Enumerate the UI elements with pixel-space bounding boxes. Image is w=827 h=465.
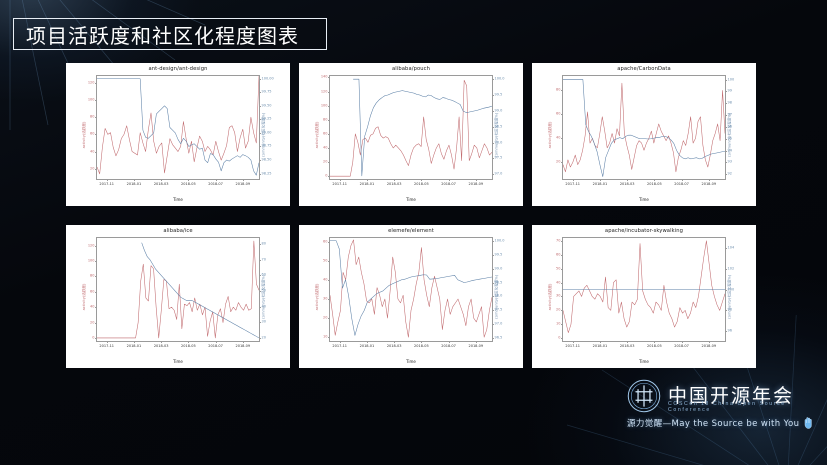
- series-line-community: [142, 243, 259, 338]
- x-axis-tick-mark: [449, 179, 450, 181]
- secondary-y-axis-tick-label: 100: [728, 78, 735, 82]
- secondary-y-axis-tick-mark: [492, 127, 494, 128]
- x-axis-tick-mark: [188, 179, 189, 181]
- y-axis-tick-mark: [328, 318, 330, 319]
- x-axis-tick-mark: [367, 179, 368, 181]
- plot-lines: [97, 238, 259, 341]
- x-axis-tick-mark: [188, 341, 189, 343]
- secondary-y-axis-tick-mark: [259, 275, 261, 276]
- x-axis-tick-label: 2017-11: [565, 344, 580, 348]
- secondary-y-axis-tick-label: 97.0: [495, 172, 503, 176]
- chart-title: alibaba/pouch: [299, 66, 523, 72]
- y-axis-tick-label: 30: [556, 295, 560, 299]
- x-axis-tick-label: 2018-09: [701, 182, 716, 186]
- x-axis-tick-mark: [573, 341, 574, 343]
- secondary-y-axis-tick-label: 96.5: [495, 336, 503, 340]
- y-axis-tick-label: 120: [88, 244, 95, 248]
- secondary-y-axis-tick-mark: [725, 139, 727, 140]
- y-axis-tick-label: 50: [556, 267, 560, 271]
- slide-canvas: 项目活跃度和社区化程度图表 ant-design/ant-design20406…: [0, 0, 827, 465]
- secondary-y-axis-tick-label: 92: [728, 173, 732, 177]
- x-axis-tick-label: 2018-07: [441, 344, 456, 348]
- x-axis-tick-mark: [367, 341, 368, 343]
- x-axis-tick-mark: [627, 179, 628, 181]
- x-axis-tick-label: 2018-09: [235, 344, 250, 348]
- y-axis-tick-label: 40: [90, 150, 94, 154]
- secondary-y-axis-tick-mark: [259, 244, 261, 245]
- x-axis-tick-label: 2018-07: [441, 182, 456, 186]
- x-axis-tick-label: 2017-11: [565, 182, 580, 186]
- secondary-y-axis-tick-mark: [259, 133, 261, 134]
- x-axis-tick-mark: [107, 179, 108, 181]
- x-axis-tick-label: 2018-01: [593, 182, 608, 186]
- secondary-y-axis-tick-label: 100.0: [495, 239, 505, 243]
- series-line-activity: [97, 241, 259, 338]
- y-axis-tick-mark: [561, 114, 563, 115]
- y-axis-label: activity(活跃度): [82, 283, 87, 310]
- x-axis-label: Time: [299, 359, 523, 364]
- secondary-y-axis-tick-mark: [259, 92, 261, 93]
- x-axis-tick-mark: [340, 179, 341, 181]
- secondary-y-axis-tick-mark: [259, 322, 261, 323]
- secondary-y-axis-tick-label: 96: [728, 329, 732, 333]
- chart-panel: apache/incubator-skywalking0102030405060…: [532, 225, 756, 368]
- y-axis-tick-mark: [95, 307, 97, 308]
- secondary-y-axis-tick-label: 20: [262, 336, 266, 340]
- y-axis-tick-mark: [328, 92, 330, 93]
- secondary-y-axis-tick-mark: [492, 269, 494, 270]
- chart-panel: elemefe/element10203040506096.597.097.59…: [299, 225, 523, 368]
- secondary-y-axis-tick-label: 99: [728, 90, 732, 94]
- y-axis-tick-label: 60: [90, 133, 94, 137]
- secondary-y-axis-tick-mark: [492, 283, 494, 284]
- x-axis-tick-label: 2017-11: [99, 182, 114, 186]
- secondary-y-axis-tick-mark: [725, 331, 727, 332]
- secondary-y-axis-label: community(社区化程度%): [261, 112, 266, 156]
- secondary-y-axis-tick-mark: [259, 146, 261, 147]
- y-axis-tick-label: 20: [323, 160, 327, 164]
- series-line-activity: [563, 241, 725, 333]
- secondary-y-axis-tick-mark: [492, 338, 494, 339]
- x-axis-tick-mark: [216, 179, 217, 181]
- x-axis-tick-label: 2017-11: [99, 344, 114, 348]
- y-axis-tick-mark: [95, 100, 97, 101]
- hand-icon: [803, 417, 814, 429]
- x-axis-tick-mark: [421, 341, 422, 343]
- y-axis-tick-mark: [328, 261, 330, 262]
- x-axis-tick-label: 2018-05: [181, 344, 196, 348]
- secondary-y-axis-tick-mark: [259, 79, 261, 80]
- x-axis-tick-label: 2018-07: [674, 344, 689, 348]
- slide-title-box: 项目活跃度和社区化程度图表: [13, 18, 327, 50]
- y-axis-tick-mark: [95, 323, 97, 324]
- x-axis-tick-mark: [243, 179, 244, 181]
- series-line-activity: [97, 76, 259, 174]
- x-axis-tick-mark: [709, 179, 710, 181]
- y-axis-tick-label: 100: [321, 104, 328, 108]
- y-axis-tick-mark: [328, 106, 330, 107]
- chart-title: apache/CarbonData: [532, 66, 756, 72]
- series-line-community: [563, 80, 725, 177]
- x-axis-tick-label: 2018-03: [154, 182, 169, 186]
- y-axis-tick-label: 40: [90, 305, 94, 309]
- secondary-y-axis-tick-label: 70: [262, 258, 266, 262]
- secondary-y-axis-tick-mark: [492, 324, 494, 325]
- y-axis-tick-label: 80: [556, 89, 560, 93]
- secondary-y-axis-tick-mark: [259, 174, 261, 175]
- secondary-y-axis-tick-mark: [259, 338, 261, 339]
- y-axis-tick-mark: [561, 255, 563, 256]
- x-axis-tick-label: 2018-09: [468, 344, 483, 348]
- y-axis-tick-mark: [561, 283, 563, 284]
- y-axis-tick-label: 50: [323, 259, 327, 263]
- y-axis-tick-label: 20: [556, 309, 560, 313]
- y-axis-tick-label: 0: [325, 174, 327, 178]
- y-axis-tick-mark: [328, 337, 330, 338]
- x-axis-label: Time: [532, 359, 756, 364]
- secondary-y-axis-label: community(社区化程度%): [494, 112, 499, 156]
- y-axis-tick-mark: [561, 338, 563, 339]
- x-axis-tick-mark: [709, 341, 710, 343]
- y-axis-tick-mark: [561, 241, 563, 242]
- x-axis-tick-mark: [243, 341, 244, 343]
- secondary-y-axis-tick-mark: [259, 106, 261, 107]
- secondary-y-axis-tick-mark: [492, 79, 494, 80]
- secondary-y-axis-tick-mark: [725, 91, 727, 92]
- x-axis-tick-label: 2018-03: [620, 344, 635, 348]
- secondary-y-axis-tick-mark: [492, 158, 494, 159]
- x-axis-tick-label: 2018-01: [360, 344, 375, 348]
- x-axis-tick-label: 2018-07: [208, 182, 223, 186]
- y-axis-tick-mark: [328, 280, 330, 281]
- secondary-y-axis-tick-label: 99.50: [262, 104, 272, 108]
- secondary-y-axis-tick-mark: [492, 241, 494, 242]
- x-axis-tick-mark: [421, 179, 422, 181]
- secondary-y-axis-tick-mark: [725, 269, 727, 270]
- x-axis-tick-label: 2018-07: [208, 344, 223, 348]
- x-axis-tick-mark: [134, 179, 135, 181]
- secondary-y-axis-tick-label: 104: [728, 247, 735, 251]
- series-line-community: [97, 79, 259, 175]
- x-axis-tick-label: 2018-03: [620, 182, 635, 186]
- y-axis-tick-mark: [328, 120, 330, 121]
- x-axis-tick-label: 2018-05: [647, 344, 662, 348]
- chart-grid: ant-design/ant-design2040608010012098.25…: [66, 63, 756, 368]
- y-axis-label: activity(活跃度): [548, 121, 553, 148]
- y-axis-tick-mark: [328, 242, 330, 243]
- x-axis-tick-label: 2018-01: [593, 344, 608, 348]
- x-axis-tick-label: 2018-09: [701, 344, 716, 348]
- x-axis-tick-mark: [134, 341, 135, 343]
- secondary-y-axis-tick-label: 99.0: [495, 267, 503, 271]
- secondary-y-axis-tick-mark: [492, 143, 494, 144]
- y-axis-tick-label: 40: [556, 281, 560, 285]
- chart-panel: alibaba/ice02040608010012020304050607080…: [66, 225, 290, 368]
- y-axis-tick-label: 40: [323, 278, 327, 282]
- x-axis-tick-mark: [394, 179, 395, 181]
- y-axis-tick-mark: [95, 117, 97, 118]
- x-axis-tick-mark: [654, 179, 655, 181]
- plot-area: 2040608092939495969798991002017-112018-0…: [562, 75, 726, 180]
- x-axis-tick-mark: [600, 179, 601, 181]
- secondary-y-axis-tick-label: 93: [728, 161, 732, 165]
- y-axis-tick-mark: [561, 296, 563, 297]
- plot-area: 02040608010012014097.097.598.098.599.099…: [329, 75, 493, 180]
- y-axis-tick-mark: [95, 276, 97, 277]
- x-axis-label: Time: [66, 197, 290, 202]
- y-axis-tick-label: 30: [323, 297, 327, 301]
- secondary-y-axis-tick-label: 80: [262, 242, 266, 246]
- secondary-y-axis-tick-label: 100.00: [262, 77, 274, 81]
- y-axis-tick-label: 80: [90, 275, 94, 279]
- x-axis-tick-mark: [476, 179, 477, 181]
- x-axis-tick-label: 2018-05: [414, 182, 429, 186]
- x-axis-tick-label: 2018-05: [414, 344, 429, 348]
- secondary-y-axis-tick-label: 100.0: [495, 77, 505, 81]
- x-axis-tick-mark: [394, 341, 395, 343]
- x-axis-tick-mark: [161, 341, 162, 343]
- logo-tagline: 源力觉醒—May the Source be with You: [627, 417, 799, 429]
- x-axis-tick-label: 2018-09: [468, 182, 483, 186]
- secondary-y-axis-tick-mark: [259, 260, 261, 261]
- y-axis-tick-label: 60: [323, 132, 327, 136]
- x-axis-tick-label: 2018-01: [127, 344, 142, 348]
- y-axis-tick-mark: [561, 138, 563, 139]
- y-axis-tick-label: 80: [90, 115, 94, 119]
- chart-title: apache/incubator-skywalking: [532, 228, 756, 234]
- y-axis-tick-mark: [328, 77, 330, 78]
- y-axis-tick-label: 60: [323, 240, 327, 244]
- y-axis-tick-mark: [95, 338, 97, 339]
- secondary-y-axis-tick-mark: [725, 162, 727, 163]
- y-axis-tick-label: 10: [323, 335, 327, 339]
- y-axis-tick-mark: [95, 169, 97, 170]
- y-axis-tick-mark: [95, 246, 97, 247]
- x-axis-label: Time: [299, 197, 523, 202]
- y-axis-label: activity(活跃度): [315, 121, 320, 148]
- plot-area: 020406080100120203040506070802017-112018…: [96, 237, 260, 342]
- y-axis-tick-mark: [95, 292, 97, 293]
- x-axis-tick-label: 2018-07: [674, 182, 689, 186]
- conference-logo: 中国开源年会 COSCon'18 China Open Source Confe…: [627, 375, 817, 453]
- secondary-y-axis-tick-mark: [725, 248, 727, 249]
- y-axis-tick-label: 100: [88, 259, 95, 263]
- plot-area: 01020304050607096981001021042017-112018-…: [562, 237, 726, 342]
- y-axis-tick-mark: [328, 148, 330, 149]
- x-axis-tick-label: 2017-11: [332, 182, 347, 186]
- secondary-y-axis-tick-label: 102: [728, 267, 735, 271]
- y-axis-label: activity(活跃度): [315, 283, 320, 310]
- y-axis-label: activity(活跃度): [548, 283, 553, 310]
- y-axis-tick-mark: [328, 162, 330, 163]
- secondary-y-axis-tick-label: 98.25: [262, 172, 272, 176]
- x-axis-tick-label: 2018-03: [387, 344, 402, 348]
- x-axis-tick-label: 2018-05: [181, 182, 196, 186]
- secondary-y-axis-tick-mark: [259, 291, 261, 292]
- y-axis-tick-label: 10: [556, 323, 560, 327]
- y-axis-tick-label: 60: [90, 290, 94, 294]
- y-axis-tick-label: 80: [323, 118, 327, 122]
- secondary-y-axis-tick-mark: [259, 119, 261, 120]
- y-axis-tick-mark: [95, 134, 97, 135]
- y-axis-tick-mark: [95, 261, 97, 262]
- secondary-y-axis-tick-mark: [725, 115, 727, 116]
- y-axis-tick-mark: [95, 83, 97, 84]
- secondary-y-axis-tick-mark: [492, 111, 494, 112]
- secondary-y-axis-tick-label: 99.75: [262, 91, 272, 95]
- logo-english-name: COSCon'18 China Open Source Conference: [668, 401, 817, 413]
- y-axis-tick-label: 0: [92, 336, 94, 340]
- x-axis-tick-label: 2017-11: [332, 344, 347, 348]
- y-axis-tick-mark: [561, 310, 563, 311]
- series-line-activity: [330, 240, 492, 337]
- x-axis-tick-label: 2018-03: [154, 344, 169, 348]
- x-axis-tick-label: 2018-03: [387, 182, 402, 186]
- secondary-y-axis-label: community(社区化程度%): [727, 274, 732, 318]
- plot-lines: [563, 238, 725, 341]
- secondary-y-axis-label: community(社区化程度%): [261, 274, 266, 318]
- y-axis-tick-label: 120: [88, 81, 95, 85]
- x-axis-tick-mark: [627, 341, 628, 343]
- x-axis-label: Time: [532, 197, 756, 202]
- secondary-y-axis-label: community(社区化程度%): [727, 112, 732, 156]
- chart-title: alibaba/ice: [66, 228, 290, 234]
- x-axis-tick-mark: [682, 341, 683, 343]
- y-axis-tick-label: 20: [90, 321, 94, 325]
- x-axis-tick-label: 2018-05: [647, 182, 662, 186]
- secondary-y-axis-tick-mark: [725, 174, 727, 175]
- x-axis-label: Time: [66, 359, 290, 364]
- secondary-y-axis-tick-label: 98: [728, 101, 732, 105]
- y-axis-tick-mark: [95, 152, 97, 153]
- series-line-community: [330, 241, 492, 336]
- secondary-y-axis-tick-mark: [492, 310, 494, 311]
- y-axis-tick-label: 20: [323, 316, 327, 320]
- y-axis-tick-label: 100: [88, 98, 95, 102]
- chart-panel: apache/CarbonData20406080929394959697989…: [532, 63, 756, 206]
- y-axis-tick-label: 20: [556, 160, 560, 164]
- secondary-y-axis-tick-mark: [492, 296, 494, 297]
- chart-title: ant-design/ant-design: [66, 66, 290, 72]
- chart-panel: alibaba/pouch02040608010012014097.097.59…: [299, 63, 523, 206]
- y-axis-tick-label: 70: [556, 239, 560, 243]
- y-axis-tick-mark: [561, 324, 563, 325]
- x-axis-tick-mark: [449, 341, 450, 343]
- secondary-y-axis-tick-mark: [725, 80, 727, 81]
- series-line-activity: [330, 80, 492, 176]
- plot-lines: [563, 76, 725, 179]
- y-axis-tick-label: 120: [321, 90, 328, 94]
- secondary-y-axis-tick-mark: [259, 160, 261, 161]
- secondary-y-axis-tick-mark: [259, 307, 261, 308]
- x-axis-tick-mark: [654, 341, 655, 343]
- coscon-seal-icon: [627, 379, 661, 413]
- x-axis-tick-mark: [107, 341, 108, 343]
- y-axis-tick-mark: [561, 90, 563, 91]
- x-axis-tick-mark: [476, 341, 477, 343]
- secondary-y-axis-tick-mark: [492, 95, 494, 96]
- y-axis-tick-mark: [561, 162, 563, 163]
- x-axis-tick-label: 2018-01: [127, 182, 142, 186]
- logo-tagline-row: 源力觉醒—May the Source be with You: [627, 417, 817, 429]
- x-axis-tick-mark: [216, 341, 217, 343]
- secondary-y-axis-tick-mark: [725, 290, 727, 291]
- secondary-y-axis-tick-label: 98.50: [262, 158, 272, 162]
- x-axis-tick-mark: [682, 179, 683, 181]
- plot-lines: [97, 76, 259, 179]
- y-axis-tick-label: 40: [323, 146, 327, 150]
- secondary-y-axis-tick-mark: [492, 255, 494, 256]
- secondary-y-axis-tick-label: 99.5: [495, 93, 503, 97]
- y-axis-tick-label: 140: [321, 76, 328, 80]
- y-axis-tick-mark: [328, 134, 330, 135]
- secondary-y-axis-label: community(社区化程度%): [494, 274, 499, 318]
- secondary-y-axis-tick-mark: [492, 174, 494, 175]
- secondary-y-axis-tick-mark: [725, 103, 727, 104]
- y-axis-tick-label: 60: [556, 253, 560, 257]
- y-axis-tick-label: 60: [556, 113, 560, 117]
- plot-area: 2040608010012098.2598.5098.7599.0099.259…: [96, 75, 260, 180]
- secondary-y-axis-tick-mark: [725, 151, 727, 152]
- plot-lines: [330, 238, 492, 341]
- x-axis-tick-mark: [600, 341, 601, 343]
- y-axis-tick-label: 0: [558, 336, 560, 340]
- page-title: 项目活跃度和社区化程度图表: [26, 20, 299, 49]
- secondary-y-axis-tick-label: 30: [262, 321, 266, 325]
- y-axis-tick-label: 20: [90, 167, 94, 171]
- y-axis-tick-mark: [328, 299, 330, 300]
- chart-panel: ant-design/ant-design2040608010012098.25…: [66, 63, 290, 206]
- secondary-y-axis-tick-mark: [725, 127, 727, 128]
- x-axis-tick-label: 2018-09: [235, 182, 250, 186]
- secondary-y-axis-tick-label: 97.0: [495, 323, 503, 327]
- chart-title: elemefe/element: [299, 228, 523, 234]
- y-axis-label: activity(活跃度): [82, 121, 87, 148]
- y-axis-tick-mark: [328, 176, 330, 177]
- plot-area: 10203040506096.597.097.598.098.599.099.5…: [329, 237, 493, 342]
- secondary-y-axis-tick-label: 99.5: [495, 253, 503, 257]
- y-axis-tick-label: 40: [556, 137, 560, 141]
- x-axis-tick-label: 2018-01: [360, 182, 375, 186]
- x-axis-tick-mark: [161, 179, 162, 181]
- y-axis-tick-mark: [561, 269, 563, 270]
- x-axis-tick-mark: [340, 341, 341, 343]
- plot-lines: [330, 76, 492, 179]
- x-axis-tick-mark: [573, 179, 574, 181]
- secondary-y-axis-tick-mark: [725, 310, 727, 311]
